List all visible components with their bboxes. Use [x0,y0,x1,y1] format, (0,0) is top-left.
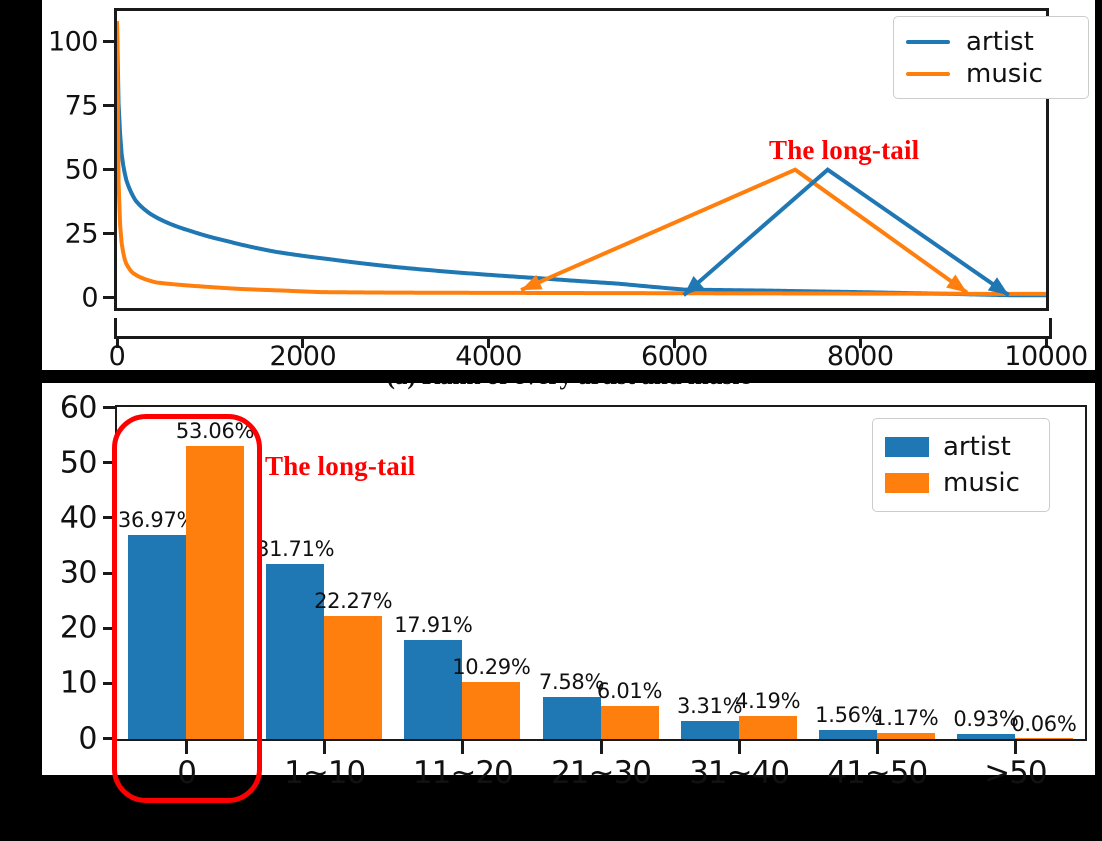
line-chart-x-tick-label: 2000 [269,341,336,372]
bar-chart-x-tick [600,741,603,754]
bar-value-label: 0.06% [1011,712,1076,736]
line-chart-x-tick-label: 4000 [455,341,522,372]
bar-chart-legend[interactable]: artist music [872,418,1050,512]
bar-music->50[interactable] [1015,738,1073,740]
line-chart-y-tick [103,296,114,299]
bar-chart-x-tick-label: 31~40 [689,755,789,791]
bar-chart-x-tick-label: >50 [984,755,1046,791]
bar-value-label: 3.31% [677,694,742,718]
legend-swatch-music [906,72,950,76]
bar-chart-x-tick-label: 21~30 [551,755,651,791]
bar-artist-21~30[interactable] [543,697,601,739]
legend-label-artist: artist [966,29,1034,55]
line-chart-x-tick-label: 6000 [641,341,708,372]
legend-entry-artist-b: artist [885,429,1037,465]
bar-chart-y-tick-label: 40 [60,500,97,535]
legend-entry-music-b: music [885,465,1037,501]
bar-music-1~10[interactable] [324,616,382,739]
bar-value-label: 17.91% [394,613,472,637]
bar-artist->50[interactable] [957,734,1015,739]
bar-artist-41~50[interactable] [819,730,877,739]
bar-value-label: 10.29% [452,655,530,679]
bar-value-label: 1.56% [815,703,880,727]
legend-swatch-artist [906,40,950,44]
bar-chart-x-tick-label: 11~20 [413,755,513,791]
bar-chart-y-tick [103,406,115,409]
bar-chart-x-tick [1014,741,1017,754]
bar-chart-y-tick-label: 30 [60,556,97,591]
bar-value-label: 4.19% [735,689,800,713]
bar-chart-x-tick [876,741,879,754]
bar-chart-y-tick-label: 50 [60,445,97,480]
line-chart-y-tick-label: 100 [48,26,98,57]
legend-entry-artist: artist [906,26,1076,58]
bar-music-11~20[interactable] [462,682,520,739]
line-chart-y-tick [103,168,114,171]
bar-chart-y-tick-label: 20 [60,611,97,646]
bar-value-label: 31.71% [256,537,334,561]
bar-chart-x-tick-label: 41~50 [827,755,927,791]
line-chart-y-tick [103,232,114,235]
music-long-tail-arrow [521,170,967,293]
line-chart-y-tick-label: 25 [65,218,98,249]
line-chart-x-tick-label: 8000 [827,341,894,372]
line-chart-axis-cap-right [1049,318,1052,339]
bar-value-label: 6.01% [597,679,662,703]
line-chart-legend[interactable]: artist music [893,16,1089,99]
line-chart-y-tick-label: 0 [81,282,98,313]
bar-chart-x-tick-label: 1~10 [284,755,365,791]
long-tail-annotation-b: The long-tail [265,451,415,482]
legend-entry-music: music [906,58,1076,90]
line-chart-axis-cap-left [114,318,117,339]
legend-label-music: music [966,61,1043,87]
bar-music-21~30[interactable] [601,706,659,739]
bar-chart-y-tick-label: 60 [60,390,97,425]
legend-swatch-music-b [885,473,929,493]
bar-value-label: 1.17% [873,706,938,730]
line-chart-x-tick-label: 0 [109,341,126,372]
line-chart-y-tick [103,40,114,43]
line-chart-y-tick-label: 75 [65,90,98,121]
bar-chart-x-tick [323,741,326,754]
line-chart-x-tick-label: 10000 [1004,341,1087,372]
bar-chart-x-tick [461,741,464,754]
line-chart-panel: 0255075100 0200040006000800010000 The lo… [42,0,1095,372]
legend-swatch-artist-b [885,437,929,457]
line-chart-bottom-axis [114,336,1052,339]
music-long-tail-arrow-head-1 [946,275,967,293]
long-tail-highlight-box [112,414,262,803]
bar-music-31~40[interactable] [739,716,797,739]
bar-chart-y-tick-label: 10 [60,666,97,701]
line-chart-y-tick-label: 50 [65,154,98,185]
figure-stage: 0255075100 0200040006000800010000 The lo… [0,0,1102,841]
long-tail-annotation-a: The long-tail [769,135,919,166]
legend-label-music-b: music [943,470,1020,496]
bar-value-label: 22.27% [314,589,392,613]
line-chart-y-tick [103,104,114,107]
artist-long-tail-arrow [684,170,1009,296]
legend-label-artist-b: artist [943,434,1011,460]
bar-chart-y-tick-label: 0 [78,721,97,756]
caption-occluding-bar [42,370,1095,383]
bar-chart-x-tick [738,741,741,754]
bar-artist-31~40[interactable] [681,721,739,739]
bar-music-41~50[interactable] [877,733,935,739]
bar-value-label: 7.58% [539,670,604,694]
bar-value-label: 0.93% [953,707,1018,731]
